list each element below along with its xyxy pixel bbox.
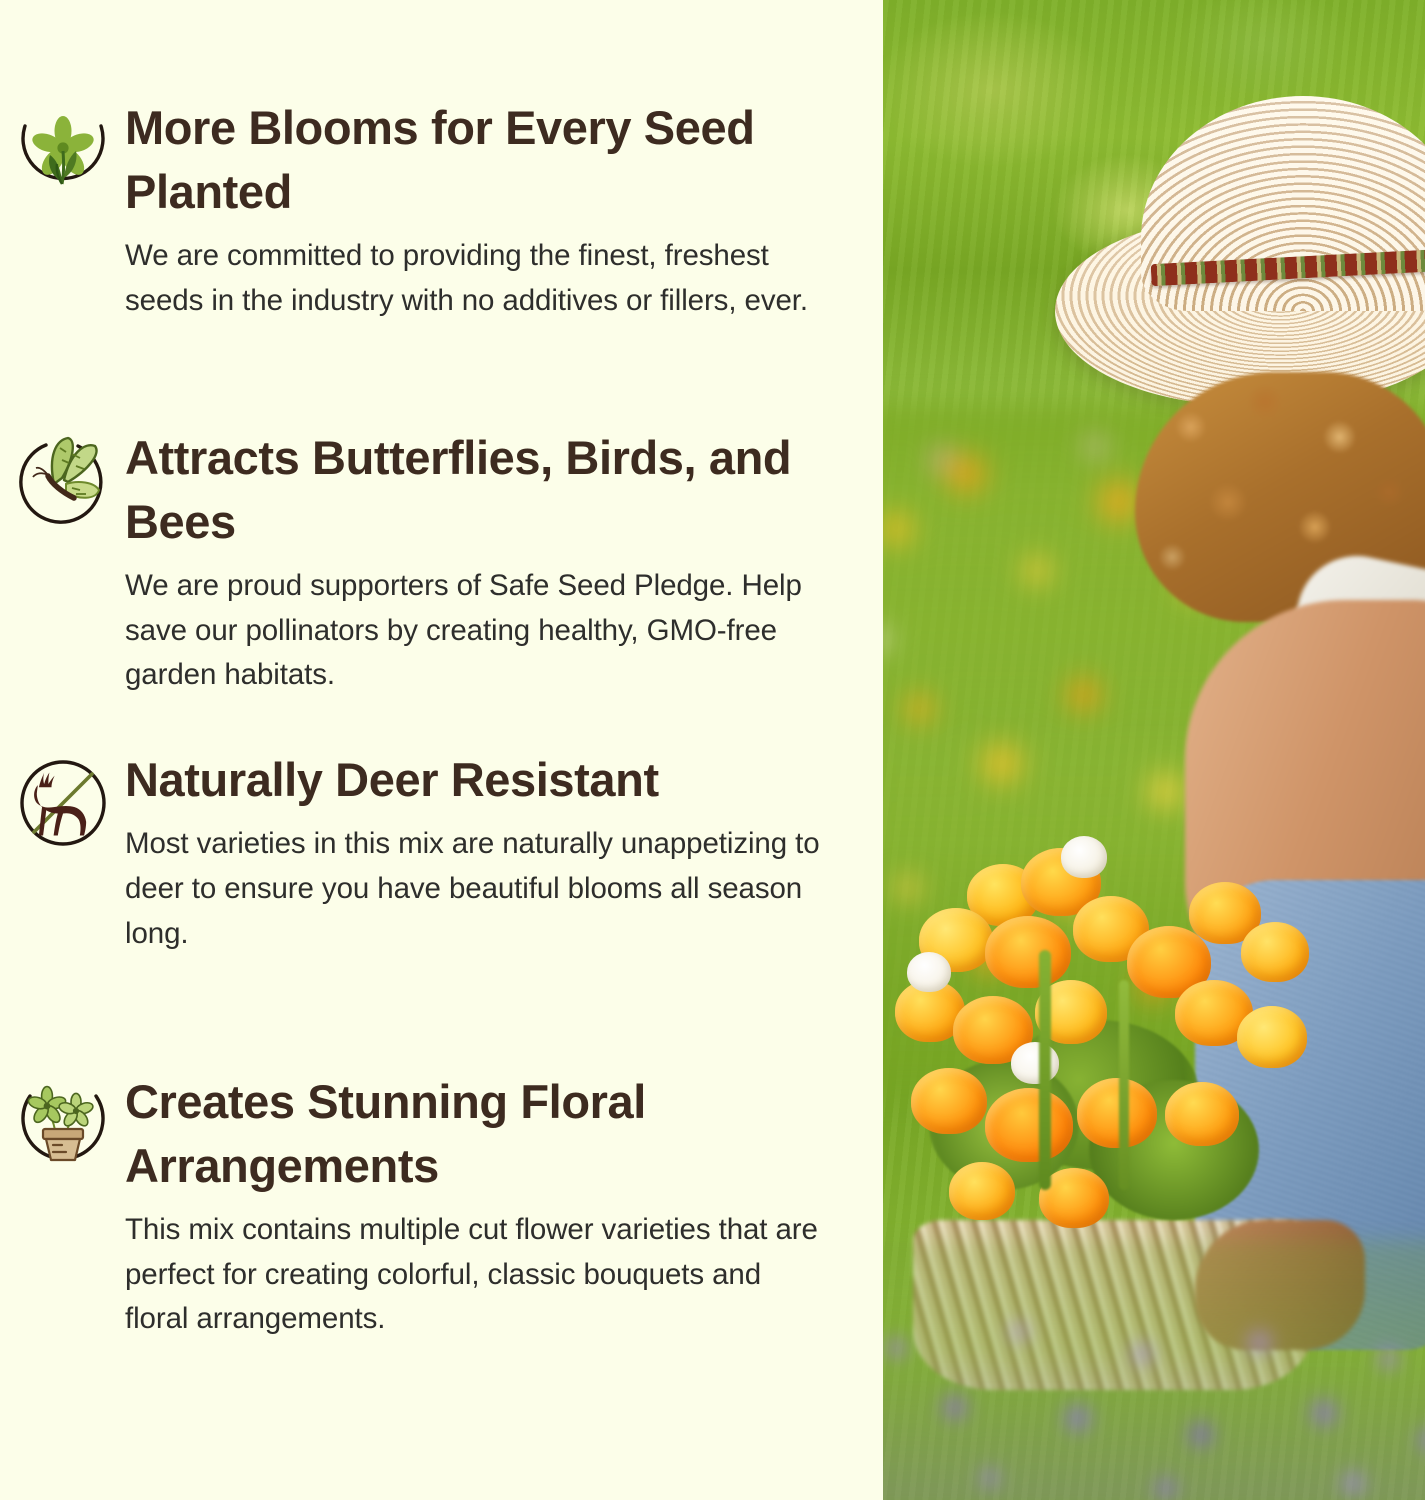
feature-list-panel: More Blooms for Every Seed Planted We ar…	[0, 0, 883, 1500]
feature-body: This mix contains multiple cut flower va…	[125, 1208, 823, 1342]
straw-sun-hat	[1055, 96, 1425, 396]
feature-text-block: Attracts Butterflies, Birds, and Bees We…	[125, 426, 843, 698]
purple-wildflowers	[883, 1240, 1425, 1500]
potted-flowers-in-circle-icon	[0, 1070, 125, 1176]
feature-text-block: Creates Stunning Floral Arrangements Thi…	[125, 1070, 843, 1342]
feature-title: More Blooms for Every Seed Planted	[125, 96, 823, 224]
feature-item: More Blooms for Every Seed Planted We ar…	[0, 96, 843, 426]
deer-resistant-icon	[0, 748, 125, 854]
feature-title: Attracts Butterflies, Birds, and Bees	[125, 426, 823, 554]
feature-item: Attracts Butterflies, Birds, and Bees We…	[0, 426, 843, 748]
feature-body: We are committed to providing the finest…	[125, 234, 823, 324]
orange-poppy-bouquet	[889, 830, 1319, 1270]
feature-text-block: More Blooms for Every Seed Planted We ar…	[125, 96, 843, 323]
feature-text-block: Naturally Deer Resistant Most varieties …	[125, 748, 843, 956]
feature-title: Naturally Deer Resistant	[125, 748, 823, 812]
product-feature-infographic: More Blooms for Every Seed Planted We ar…	[0, 0, 1425, 1500]
feature-item: Creates Stunning Floral Arrangements Thi…	[0, 1070, 843, 1400]
feature-title: Creates Stunning Floral Arrangements	[125, 1070, 823, 1198]
feature-body: We are proud supporters of Safe Seed Ple…	[125, 564, 823, 698]
lifestyle-photo	[883, 0, 1425, 1500]
butterfly-in-circle-icon	[0, 426, 125, 532]
feature-item: Naturally Deer Resistant Most varieties …	[0, 748, 843, 1070]
feature-body: Most varieties in this mix are naturally…	[125, 822, 823, 956]
flower-in-circle-icon	[0, 96, 125, 202]
